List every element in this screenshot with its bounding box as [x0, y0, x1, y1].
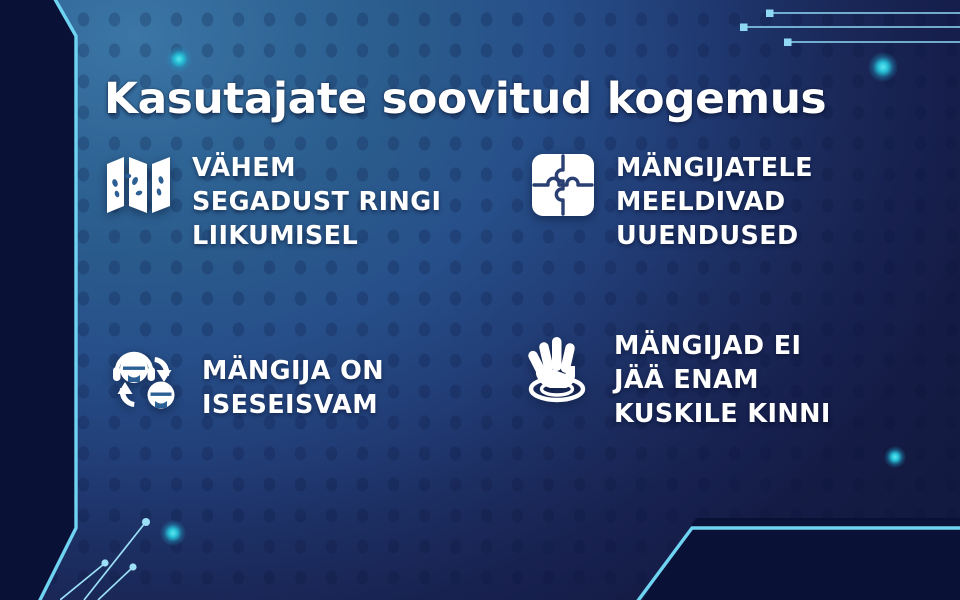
support-handoff-icon [108, 345, 184, 417]
feature-label: MÄNGIJA ON ISESEISVAM [202, 345, 384, 423]
feature-label: VÄHEM SEGADUST RINGI LIIKUMISEL [192, 150, 441, 254]
feature-item: MÄNGIJAD EI JÄÄ ENAM KUSKILE KINNI [518, 330, 831, 432]
feature-label: MÄNGIJAD EI JÄÄ ENAM KUSKILE KINNI [614, 330, 831, 432]
feature-item: VÄHEM SEGADUST RINGI LIIKUMISEL [104, 150, 441, 254]
slide-content: Kasutajate soovitud kogemus [0, 0, 960, 600]
folded-map-icon [104, 150, 174, 220]
feature-item: MÄNGIJATELE MEELDIVAD UUENDUSED [528, 150, 813, 254]
sinking-hand-icon [518, 330, 596, 408]
feature-label: MÄNGIJATELE MEELDIVAD UUENDUSED [616, 150, 813, 254]
page-title: Kasutajate soovitud kogemus [104, 74, 826, 124]
puzzle-pieces-icon [528, 150, 598, 220]
feature-item: MÄNGIJA ON ISESEISVAM [108, 345, 384, 423]
slide-canvas: Kasutajate soovitud kogemus [0, 0, 960, 600]
